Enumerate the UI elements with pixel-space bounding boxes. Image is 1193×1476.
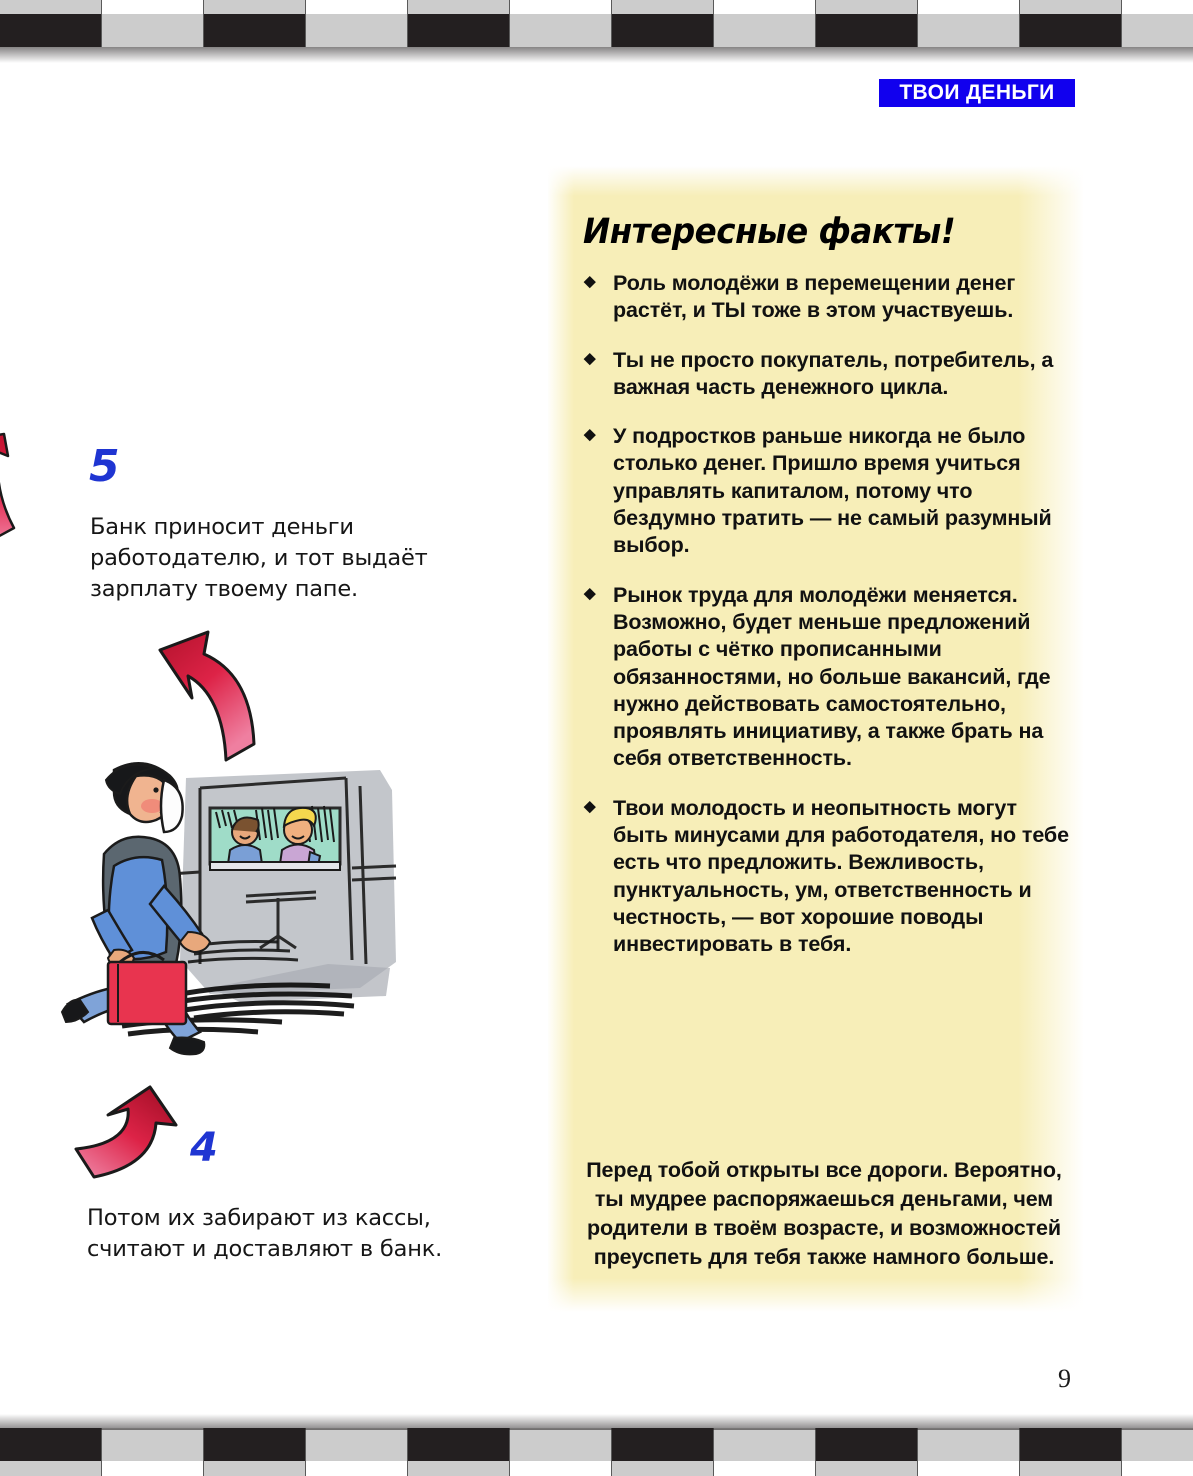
checker-row-lower <box>0 1461 1193 1476</box>
diamond-bullet-icon: ◆ <box>584 348 595 370</box>
checker-row-lower <box>0 14 1193 47</box>
fact-text: Роль молодёжи в перемещении денег растёт… <box>613 271 1015 322</box>
fact-item: ◆ Роль молодёжи в перемещении денег раст… <box>580 270 1070 325</box>
fact-text: Рынок труда для молодёжи меняется. Возмо… <box>613 583 1051 771</box>
step-text-5: Банк приносит деньги работодателю, и тот… <box>90 512 450 605</box>
checkered-border-top <box>0 0 1193 62</box>
fact-item: ◆ Ты не просто покупатель, потребитель, … <box>580 347 1070 402</box>
bank-teller-illustration <box>60 750 480 1080</box>
fact-item: ◆ Рынок труда для молодёжи меняется. Воз… <box>580 582 1070 773</box>
fact-item: ◆ Твои молодость и неопытность могут быт… <box>580 795 1070 959</box>
page-number: 9 <box>1058 1364 1071 1394</box>
diamond-bullet-icon: ◆ <box>584 583 595 605</box>
red-arrow-up-left-icon <box>150 628 310 768</box>
fact-text: Твои молодость и неопытность могут быть … <box>613 796 1069 956</box>
step-number-4: 4 <box>190 1125 218 1171</box>
checker-row-upper <box>0 0 1193 14</box>
checker-fade-top <box>0 47 1193 63</box>
fact-text: Ты не просто покупатель, потребитель, а … <box>613 348 1053 399</box>
red-arrow-left-edge-icon <box>0 432 54 542</box>
step-number-5: 5 <box>89 441 120 492</box>
facts-list: ◆ Роль молодёжи в перемещении денег раст… <box>580 270 1070 981</box>
diamond-bullet-icon: ◆ <box>584 424 595 446</box>
checkered-border-bottom <box>0 1414 1193 1476</box>
fact-text: У подростков раньше никогда не было стол… <box>613 424 1052 557</box>
red-arrow-up-icon <box>72 1085 202 1185</box>
diamond-bullet-icon: ◆ <box>584 271 595 293</box>
section-badge: ТВОИ ДЕНЬГИ <box>879 79 1075 107</box>
diamond-bullet-icon: ◆ <box>584 796 595 818</box>
checker-row-upper <box>0 1428 1193 1461</box>
interesting-facts-panel: Интересные факты! ◆ Роль молодёжи в пере… <box>548 166 1083 1312</box>
step-text-4: Потом их забирают из кассы, считают и до… <box>87 1203 487 1265</box>
panel-title: Интересные факты! <box>583 212 955 252</box>
fact-item: ◆ У подростков раньше никогда не было ст… <box>580 423 1070 559</box>
panel-closing-text: Перед тобой открыты все дороги. Вероятно… <box>574 1156 1074 1272</box>
